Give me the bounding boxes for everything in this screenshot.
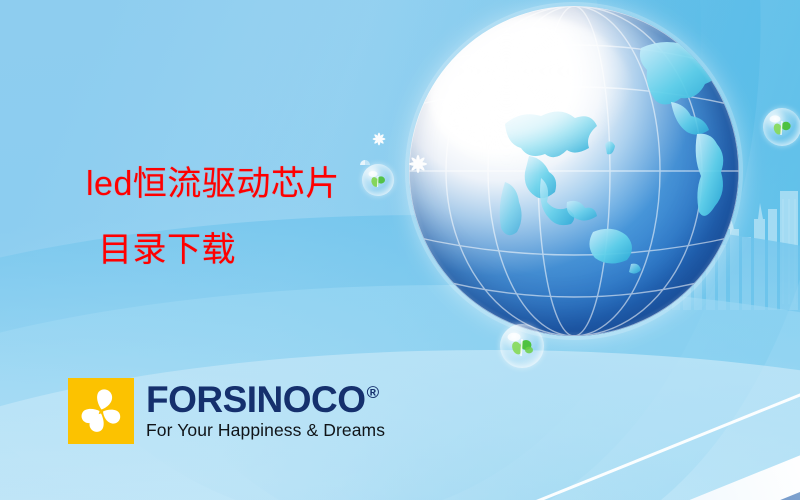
- logo-wordmark: FORSINOCO ®: [146, 382, 385, 418]
- logo-wordmark-text: FORSINOCO: [146, 382, 366, 418]
- company-logo: FORSINOCO ® For Your Happiness & Dreams: [68, 378, 385, 444]
- bubble-with-green-sprout-icon: [500, 324, 544, 368]
- promotional-banner: led恒流驱动芯片 目录下载 FORSINOCO ® For Your Happ…: [0, 0, 800, 500]
- logo-tagline: For Your Happiness & Dreams: [146, 420, 385, 441]
- bubble-sprout-right: [763, 108, 800, 146]
- bubble-sprout-middle: [500, 324, 544, 368]
- flower-large-middle: [404, 150, 432, 178]
- bubble-sprout-top: [362, 164, 394, 196]
- page-title: led恒流驱动芯片 目录下载: [86, 163, 340, 271]
- flower-small-upper: [369, 129, 389, 149]
- earth-globe-icon: [409, 6, 739, 336]
- registered-trademark-icon: ®: [367, 384, 379, 401]
- headline-line-2: 目录下载: [86, 229, 340, 271]
- bubble-with-green-sprout-icon: [763, 108, 800, 146]
- headline-line-1: led恒流驱动芯片: [86, 165, 340, 203]
- logo-mark-tile: [68, 378, 134, 444]
- logo-text-block: FORSINOCO ® For Your Happiness & Dreams: [146, 382, 385, 441]
- globe-rim-glow: [405, 2, 743, 340]
- four-petal-pinwheel-icon: [68, 378, 134, 444]
- bubble-with-green-sprout-icon: [362, 164, 394, 196]
